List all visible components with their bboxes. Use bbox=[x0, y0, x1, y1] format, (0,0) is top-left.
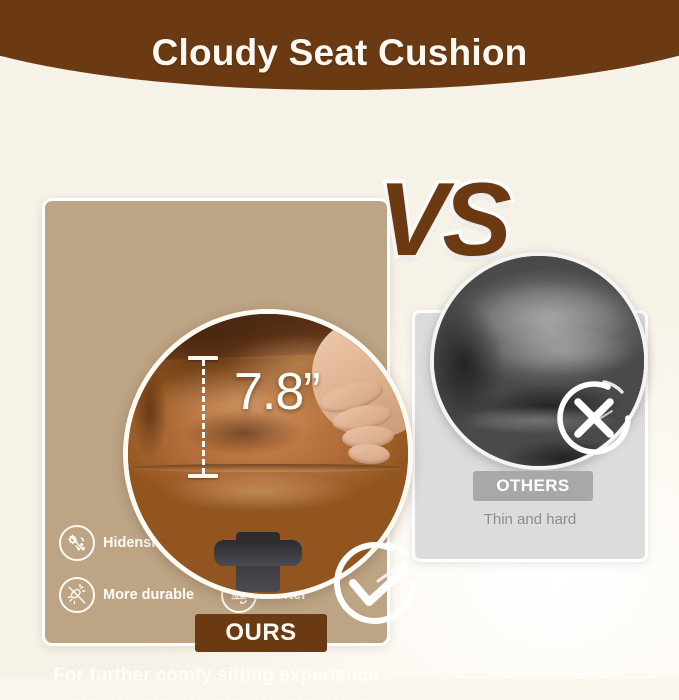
leather-highlight-c bbox=[158, 472, 358, 512]
page-title: Cloudy Seat Cushion bbox=[0, 32, 679, 74]
dimension-dashed-line bbox=[202, 360, 205, 474]
dimension-value: 7.8” bbox=[234, 362, 320, 422]
leather-seam-line bbox=[128, 464, 408, 472]
others-tagline: Thin and hard bbox=[415, 511, 645, 528]
ours-tagline: For further comfy sitting experience bbox=[45, 665, 387, 687]
header-banner: Cloudy Seat Cushion bbox=[0, 0, 679, 90]
others-badge: OTHERS bbox=[473, 471, 593, 501]
more-durable-icon bbox=[59, 577, 95, 613]
dimension-cap-bottom bbox=[188, 474, 218, 478]
ours-badge: OURS bbox=[195, 614, 327, 652]
chair-knob bbox=[214, 540, 302, 566]
check-icon bbox=[323, 531, 427, 635]
leather-crease-b bbox=[132, 364, 168, 460]
vs-label: VS bbox=[378, 168, 507, 272]
cross-icon bbox=[548, 372, 640, 464]
gray-highlight-b bbox=[494, 326, 634, 376]
ours-panel: 7.8” OURS For further comfy sitting expe… bbox=[42, 198, 390, 646]
page-background: Cloudy Seat Cushion bbox=[0, 0, 679, 679]
hidensity-icon bbox=[59, 525, 95, 561]
